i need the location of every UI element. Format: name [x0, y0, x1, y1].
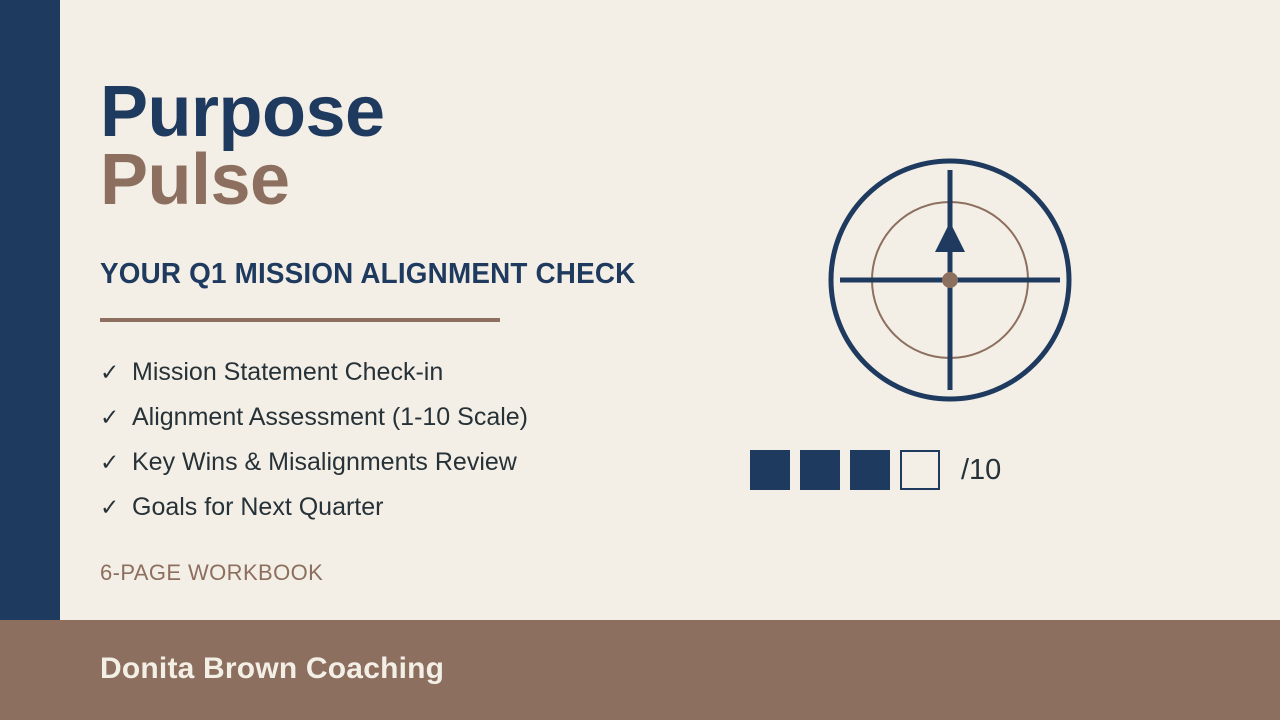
- check-icon: ✓: [100, 449, 132, 476]
- list-item: ✓ Alignment Assessment (1-10 Scale): [100, 403, 528, 448]
- check-icon: ✓: [100, 404, 132, 431]
- compass-needle: [935, 222, 965, 252]
- page-title: Purpose Pulse: [100, 78, 385, 215]
- list-item: ✓ Mission Statement Check-in: [100, 358, 528, 403]
- compass-hub: [942, 272, 958, 288]
- left-accent-bar: [0, 0, 60, 620]
- brand-name: Donita Brown Coaching: [100, 652, 444, 686]
- workbook-page-count: 6-PAGE WORKBOOK: [100, 560, 323, 586]
- footer-band: Donita Brown Coaching: [0, 620, 1280, 720]
- page-title-line-2: Pulse: [100, 146, 385, 214]
- score-box-2[interactable]: [800, 450, 840, 490]
- score-meter: /10: [750, 450, 1001, 490]
- score-box-3[interactable]: [850, 450, 890, 490]
- title-divider: [100, 318, 500, 322]
- score-box-1[interactable]: [750, 450, 790, 490]
- list-item: ✓ Goals for Next Quarter: [100, 493, 528, 538]
- score-total-label: /10: [961, 454, 1001, 487]
- check-icon: ✓: [100, 494, 132, 521]
- list-item-label: Goals for Next Quarter: [132, 493, 383, 522]
- check-icon: ✓: [100, 359, 132, 386]
- list-item-label: Mission Statement Check-in: [132, 358, 443, 387]
- page-subtitle: YOUR Q1 MISSION ALIGNMENT CHECK: [100, 258, 635, 291]
- slide-canvas: Purpose Pulse YOUR Q1 MISSION ALIGNMENT …: [0, 0, 1280, 720]
- checklist: ✓ Mission Statement Check-in ✓ Alignment…: [100, 358, 528, 538]
- compass-icon: [825, 152, 1080, 407]
- list-item-label: Key Wins & Misalignments Review: [132, 448, 517, 477]
- score-box-4[interactable]: [900, 450, 940, 490]
- list-item: ✓ Key Wins & Misalignments Review: [100, 448, 528, 493]
- page-title-line-1: Purpose: [100, 78, 385, 146]
- list-item-label: Alignment Assessment (1-10 Scale): [132, 403, 528, 432]
